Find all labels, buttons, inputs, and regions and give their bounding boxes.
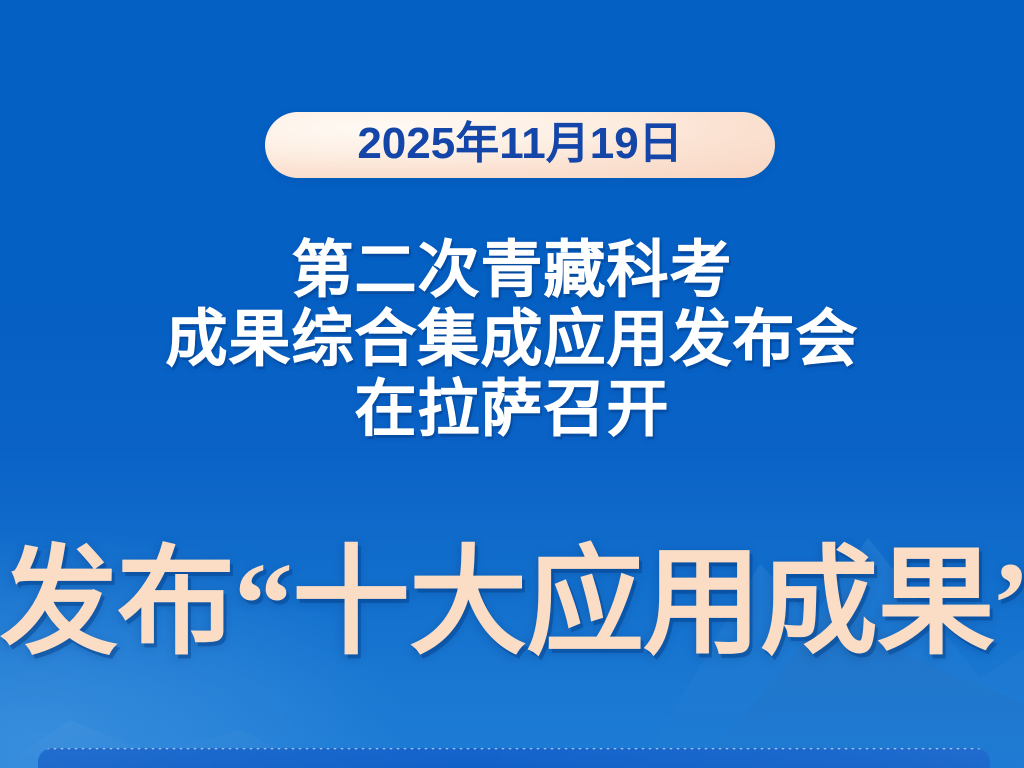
bottom-card-scallop-edge: [38, 748, 990, 754]
highlight-headline: 发布“十大应用成果”: [0, 545, 1024, 663]
date-badge-label: 2025年11月19日: [357, 122, 682, 166]
page-title-line-2: 成果综合集成应用发布会: [0, 305, 1024, 374]
page-title-line-3: 在拉萨召开: [0, 375, 1024, 444]
page-title-line-1: 第二次青藏科考: [0, 236, 1024, 305]
page-title: 第二次青藏科考 成果综合集成应用发布会 在拉萨召开: [0, 236, 1024, 444]
poster-root: 2025年11月19日 第二次青藏科考 成果综合集成应用发布会 在拉萨召开 发布…: [0, 0, 1024, 768]
date-badge: 2025年11月19日: [265, 112, 775, 178]
bottom-card: [38, 748, 990, 768]
